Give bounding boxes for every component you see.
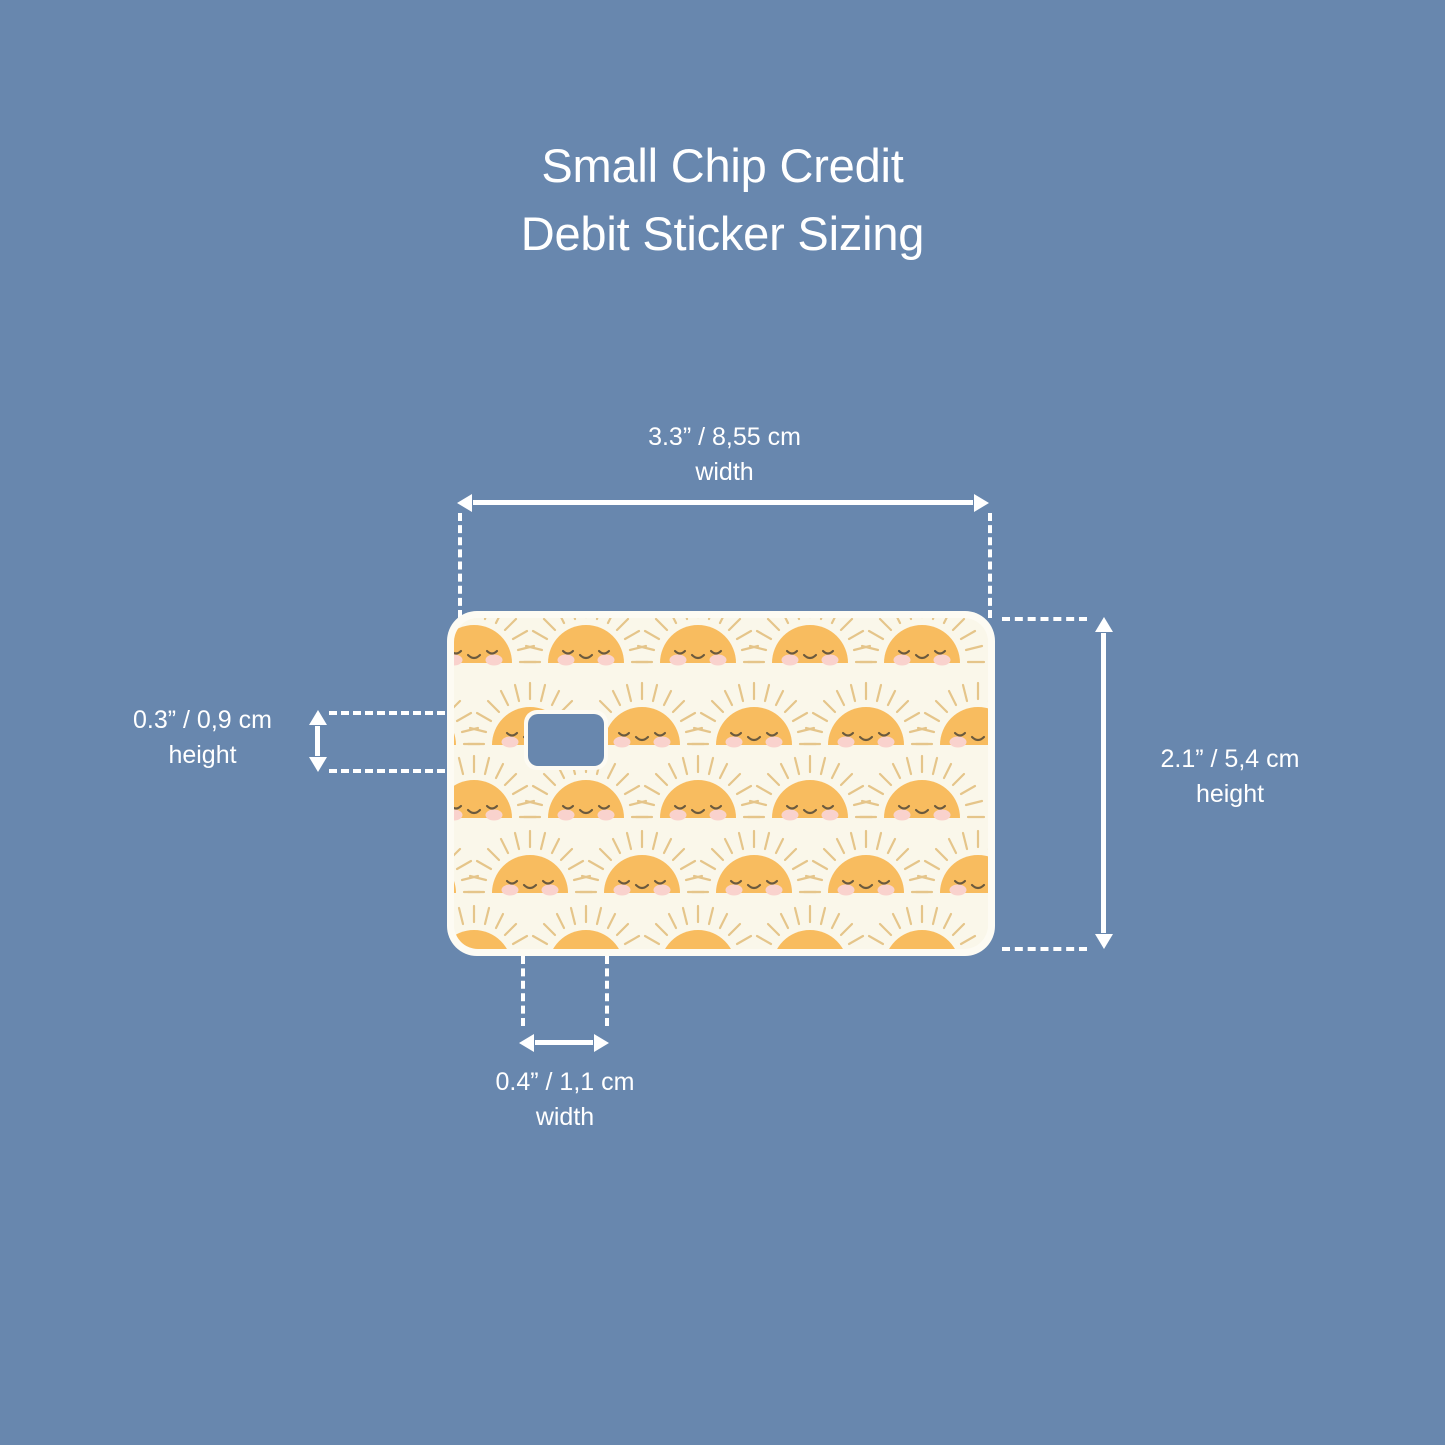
card-height-guide-bottom (1002, 947, 1087, 951)
smiling-sun-pattern (454, 618, 988, 949)
top-width-guide-right (988, 513, 992, 618)
left-height-label: 0.3” / 0,9 cm height (95, 703, 310, 773)
card-face (454, 618, 988, 949)
top-width-guide-left (458, 513, 462, 618)
chip-height-arrow (315, 726, 320, 756)
chip-width-guide-right (605, 956, 609, 1026)
right-height-label: 2.1” / 5,4 cm height (1105, 742, 1355, 812)
chip-cutout-hole (528, 714, 604, 766)
top-width-arrow (473, 500, 973, 505)
chip-cutout[interactable] (524, 710, 608, 770)
credit-card-sticker[interactable] (447, 611, 995, 956)
sizing-diagram-page: Small Chip Credit Debit Sticker Sizing 3… (0, 0, 1445, 1445)
chip-width-arrow (535, 1040, 593, 1045)
page-title: Small Chip Credit Debit Sticker Sizing (0, 132, 1445, 268)
bottom-width-label: 0.4” / 1,1 cm width (440, 1065, 690, 1135)
card-height-guide-top (1002, 617, 1087, 621)
card-height-arrow (1101, 633, 1106, 933)
top-width-label: 3.3” / 8,55 cm width (537, 420, 912, 490)
chip-width-guide-left (521, 956, 525, 1026)
